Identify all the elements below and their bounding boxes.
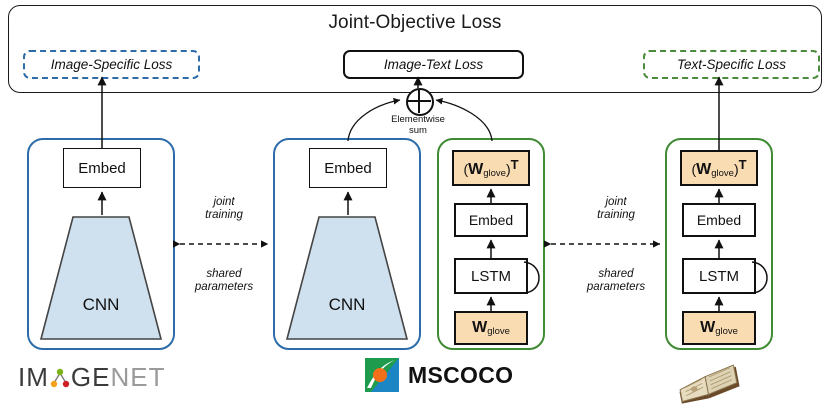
image-branch-1-cnn-label: CNN bbox=[39, 295, 163, 315]
glove-subscript: glove bbox=[483, 168, 506, 179]
glove-subscript: glove bbox=[715, 326, 738, 337]
imagenet-logo: IM GE NET bbox=[18, 362, 165, 392]
image-text-loss-label: Image-Text Loss bbox=[384, 57, 483, 72]
text-branch-1-wglove-node: Wglove bbox=[454, 311, 528, 345]
imagenet-logo-part3: NET bbox=[110, 362, 165, 393]
text-branch-2-embed-label: Embed bbox=[697, 212, 741, 228]
glove-subscript: glove bbox=[711, 168, 734, 179]
mscoco-logo: MSCOCO bbox=[365, 358, 513, 392]
text-branch-2-wglove-node: Wglove bbox=[682, 311, 756, 345]
jt-line1: joint bbox=[578, 196, 654, 209]
text-specific-loss-label: Text-Specific Loss bbox=[677, 57, 786, 72]
w-symbol: W bbox=[472, 319, 487, 336]
image-branch-1-cnn-node: CNN bbox=[39, 215, 163, 341]
diagram-canvas: Joint-Objective Loss Image-Specific Loss… bbox=[0, 0, 828, 408]
mscoco-mark-icon bbox=[365, 358, 399, 392]
text-branch-1-lstm-label: LSTM bbox=[471, 268, 511, 285]
jt-line2: training bbox=[578, 209, 654, 222]
image-branch-1-embed-node: Embed bbox=[63, 148, 141, 188]
book-icon bbox=[672, 358, 746, 404]
image-branch-2-embed-node: Embed bbox=[309, 148, 387, 188]
page-title: Joint-Objective Loss bbox=[9, 12, 821, 34]
w-symbol: W bbox=[468, 161, 483, 178]
joint-objective-container: Joint-Objective Loss Image-Specific Loss… bbox=[8, 5, 822, 93]
mscoco-logo-label: MSCOCO bbox=[408, 362, 513, 389]
transpose-superscript: T bbox=[739, 157, 747, 172]
jt-line1: joint bbox=[186, 196, 262, 209]
sp-line1: shared bbox=[177, 268, 271, 281]
image-text-loss-box: Image-Text Loss bbox=[343, 50, 524, 79]
image-branch-2-embed-label: Embed bbox=[324, 160, 372, 177]
text-specific-loss-box: Text-Specific Loss bbox=[643, 50, 820, 79]
text-branch-2-embed-node: Embed bbox=[682, 203, 756, 237]
imagenet-logo-part1: IM bbox=[18, 362, 49, 393]
sp-line2: parameters bbox=[569, 281, 663, 294]
imagenet-logo-part2: GE bbox=[71, 362, 111, 393]
text-branch-1-embed-label: Embed bbox=[469, 212, 513, 228]
elementwise-sum-label: Elementwise sum bbox=[371, 114, 465, 136]
glove-subscript: glove bbox=[487, 326, 510, 337]
transpose-superscript: T bbox=[511, 157, 519, 172]
image-branch-2-cnn-node: CNN bbox=[285, 215, 409, 341]
text-link-joint-training-label: joint training bbox=[578, 196, 654, 222]
text-branch-2-wglove-label: Wglove bbox=[700, 319, 738, 337]
text-branch-2-lstm-label: LSTM bbox=[699, 268, 739, 285]
elementwise-sum-icon bbox=[406, 88, 434, 116]
image-branch-2-cnn-label: CNN bbox=[285, 295, 409, 315]
text-link-shared-parameters-label: shared parameters bbox=[569, 268, 663, 294]
text-branch-2-wglove-transpose-node: (Wglove)T bbox=[680, 150, 758, 186]
elementwise-sum-line2: sum bbox=[371, 125, 465, 136]
image-branch-1-embed-label: Embed bbox=[78, 160, 126, 177]
w-symbol: W bbox=[700, 319, 715, 336]
sp-line2: parameters bbox=[177, 281, 271, 294]
text-branch-1-wglove-transpose-label: (Wglove)T bbox=[463, 157, 518, 179]
image-link-shared-parameters-label: shared parameters bbox=[177, 268, 271, 294]
text-branch-2-wglove-transpose-label: (Wglove)T bbox=[691, 157, 746, 179]
imagenet-tree-icon bbox=[50, 366, 70, 388]
image-specific-loss-label: Image-Specific Loss bbox=[51, 57, 173, 72]
text-branch-1-embed-node: Embed bbox=[454, 203, 528, 237]
elementwise-sum-line1: Elementwise bbox=[371, 114, 465, 125]
text-branch-1-wglove-transpose-node: (Wglove)T bbox=[452, 150, 530, 186]
sp-line1: shared bbox=[569, 268, 663, 281]
image-specific-loss-box: Image-Specific Loss bbox=[23, 50, 200, 79]
text-branch-2-lstm-node: LSTM bbox=[682, 258, 756, 294]
text-branch-1-wglove-label: Wglove bbox=[472, 319, 510, 337]
image-link-joint-training-label: joint training bbox=[186, 196, 262, 222]
w-symbol: W bbox=[696, 161, 711, 178]
text-branch-1-lstm-node: LSTM bbox=[454, 258, 528, 294]
jt-line2: training bbox=[186, 209, 262, 222]
